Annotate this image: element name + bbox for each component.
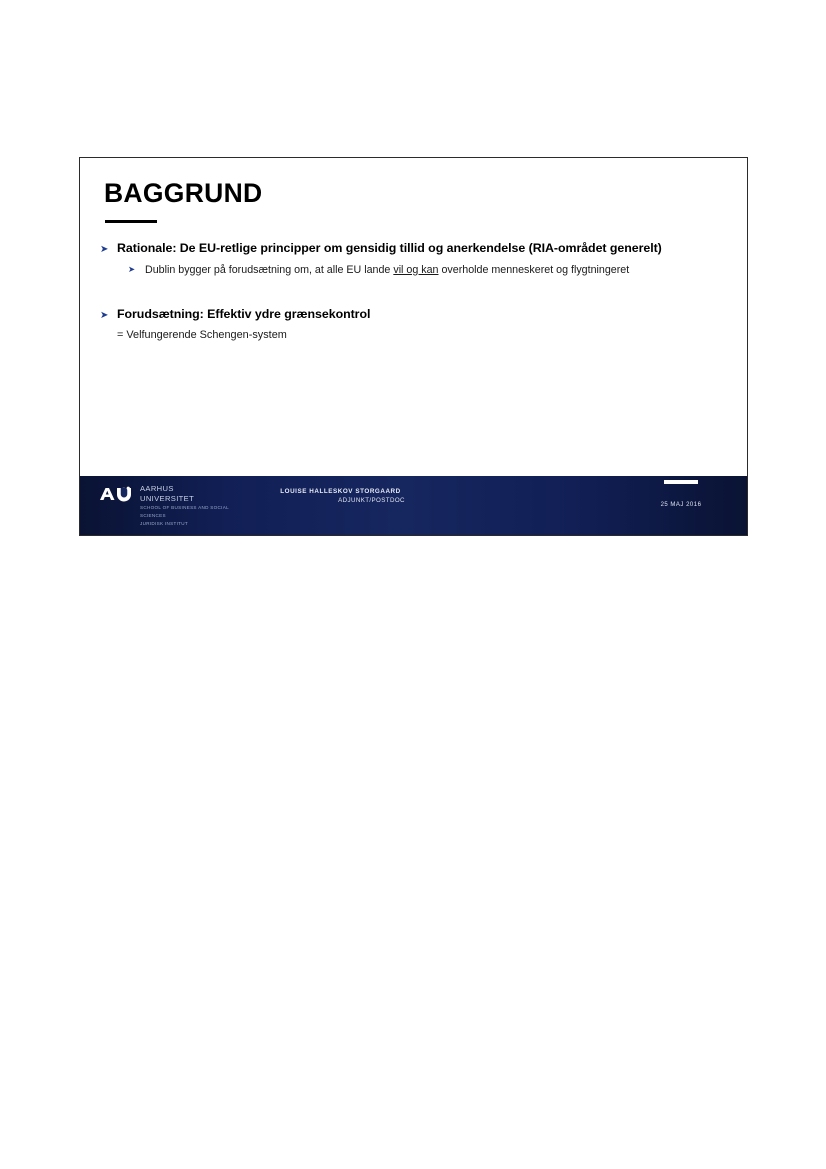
list-item: ➤ Forudsætning: Effektiv ydre grænsekont… (100, 307, 733, 323)
presenter-name: LOUISE HALLESKOV STORGAARD (80, 487, 601, 496)
chevron-bullet-icon: ➤ (100, 241, 117, 255)
list-item-text-underlined: vil og kan (393, 264, 438, 276)
list-item-label: Forudsætning: Effektiv ydre grænsekontro… (117, 307, 370, 323)
list-item-text-after: overholde menneskeret og flygtningeret (439, 264, 630, 276)
bullet-list: ➤ Rationale: De EU-retlige principper om… (100, 241, 733, 342)
footer-dash-rule (664, 480, 698, 484)
list-item-label: Dublin bygger på forudsætning om, at all… (145, 263, 629, 277)
list-item-label: Rationale: De EU-retlige principper om g… (117, 241, 662, 257)
list-item: ➤ Rationale: De EU-retlige principper om… (100, 241, 733, 257)
chevron-bullet-icon: ➤ (100, 307, 117, 321)
department-line2: SCIENCES (140, 513, 229, 520)
footer-date-block: 25 MAJ 2016 (635, 476, 727, 508)
department-line1: SCHOOL OF BUSINESS AND SOCIAL (140, 505, 229, 512)
page-title: BAGGRUND (104, 180, 262, 208)
presentation-date: 25 MAJ 2016 (635, 502, 727, 508)
list-item-text-before: Dublin bygger på forudsætning om, at all… (145, 264, 393, 276)
list-item-label: = Velfungerende Schengen-system (100, 328, 733, 342)
presenter-role: ADJUNKT/POSTDOC (80, 496, 601, 505)
presentation-slide: BAGGRUND ➤ Rationale: De EU-retlige prin… (79, 157, 748, 536)
list-item: ➤ Dublin bygger på forudsætning om, at a… (100, 263, 733, 277)
department-line3: JURIDISK INSTITUT (140, 521, 229, 528)
chevron-bullet-icon: ➤ (128, 263, 145, 275)
slide-footer: AARHUS UNIVERSITET SCHOOL OF BUSINESS AN… (80, 476, 747, 535)
section-spacer (100, 277, 733, 307)
slide-content-area: BAGGRUND ➤ Rationale: De EU-retlige prin… (80, 158, 747, 476)
title-underline-rule (105, 220, 157, 223)
